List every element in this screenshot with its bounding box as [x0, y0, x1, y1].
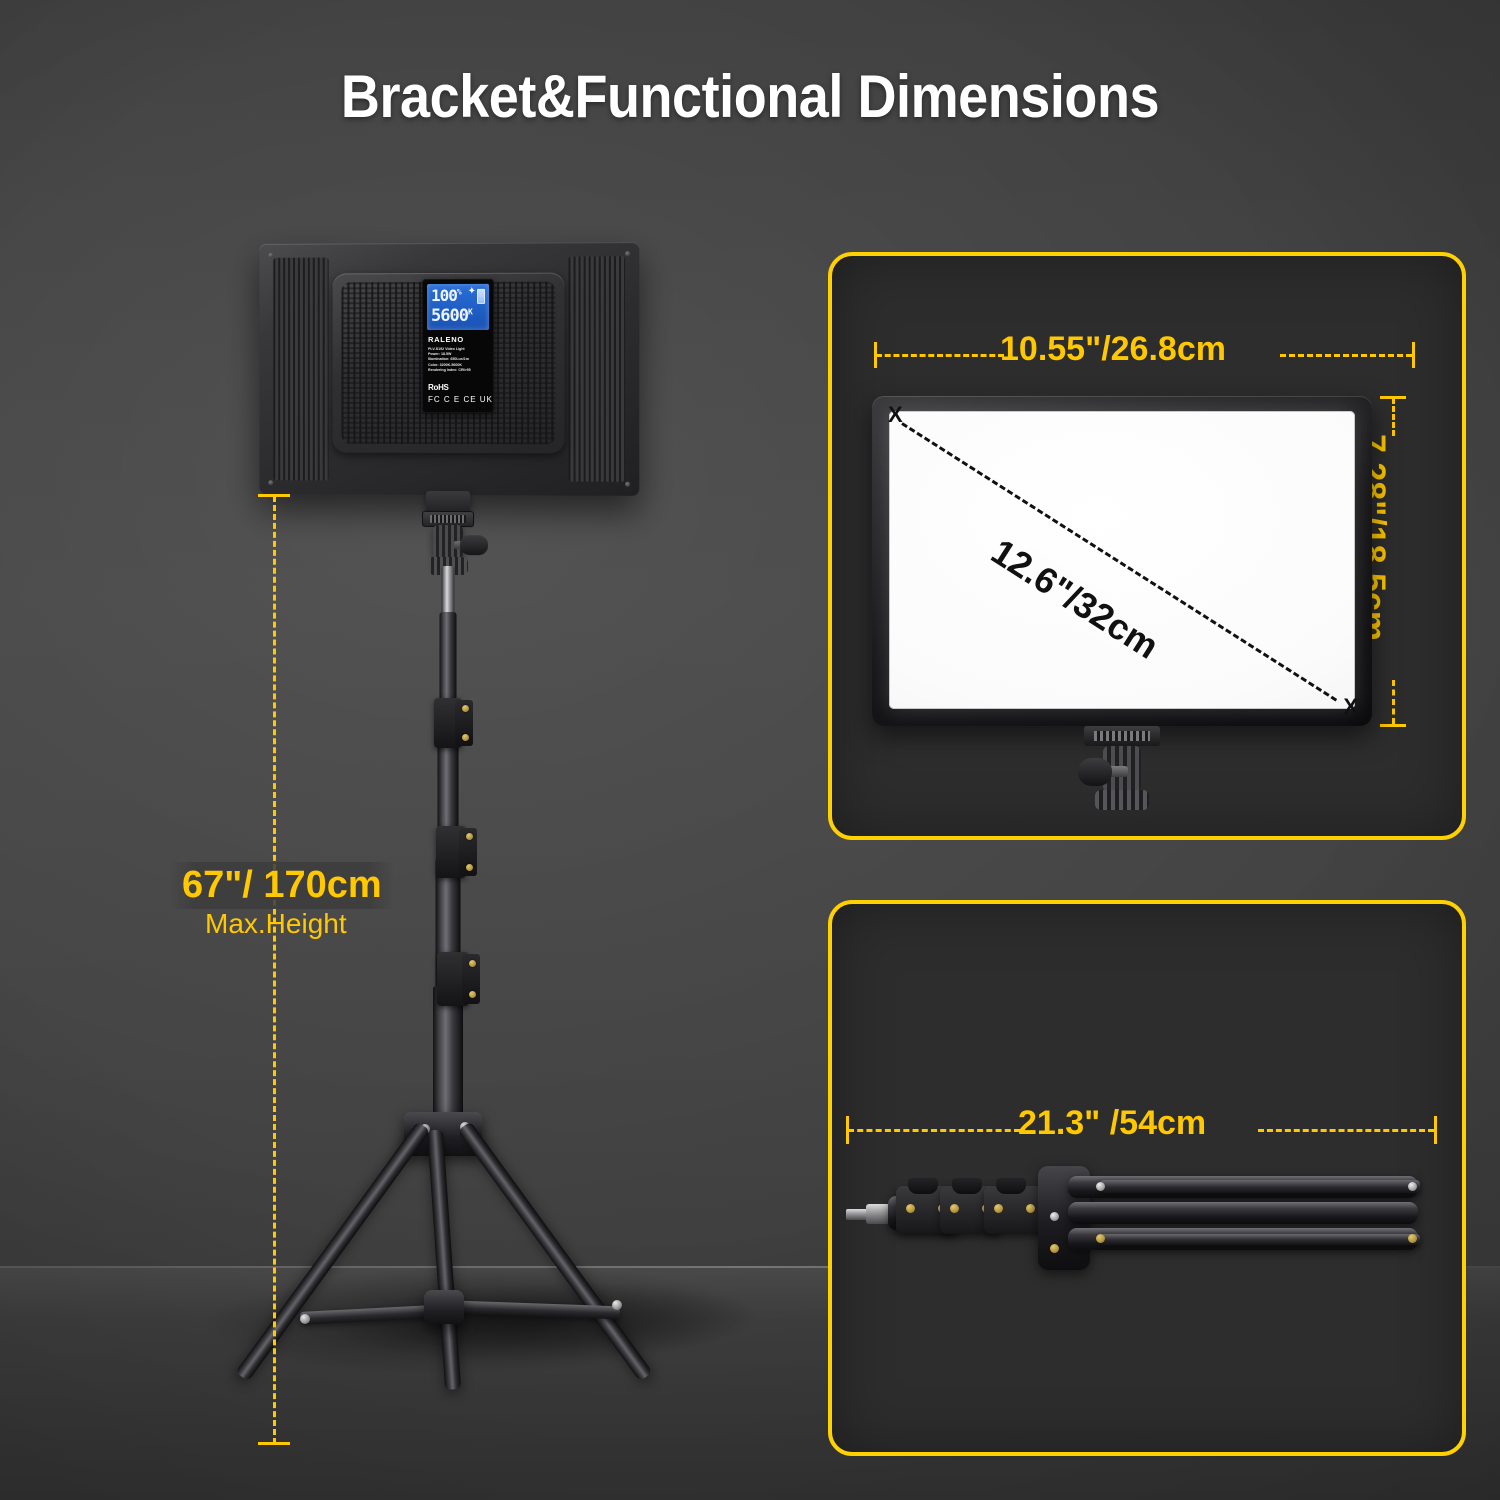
- brace-pivot-screw: [612, 1300, 622, 1310]
- lock-screw: [950, 1204, 959, 1213]
- lcd-temperature-row: 5600K: [431, 308, 486, 325]
- infographic-canvas: Bracket&Functional Dimensions 100% ✦ 560…: [0, 0, 1500, 1500]
- diagonal-corner-mark: X: [888, 404, 903, 426]
- height-measure-line-top: [1392, 398, 1395, 436]
- panel-folded-dimensions: 21.3" /54cm: [828, 900, 1466, 1456]
- mount-screw-base: [866, 1204, 890, 1224]
- diagonal-corner-mark: X: [1343, 696, 1358, 718]
- folded-lock-lever[interactable]: [996, 1178, 1026, 1194]
- folded-lock-lever[interactable]: [952, 1178, 982, 1194]
- sun-icon: ✦: [468, 286, 476, 297]
- housing-screw: [625, 482, 630, 487]
- panel-light-dimensions: 10.55"/26.8cm 7.28"/18.5cm X X 12.6"/32c…: [828, 252, 1466, 840]
- mount-screw-tip: [846, 1209, 868, 1220]
- brace-pivot-screw: [1408, 1234, 1417, 1243]
- width-measure-line-right: [1280, 354, 1412, 357]
- lock-screw: [466, 833, 473, 840]
- led-light-panel-front: X X 12.6"/32cm: [872, 396, 1372, 726]
- lock-screw: [469, 960, 476, 967]
- brace-centre-collar: [424, 1290, 464, 1324]
- brand-name: RALENO: [428, 335, 464, 344]
- lcd-brightness-value: 100: [431, 286, 457, 305]
- flip-lock-1[interactable]: [434, 698, 462, 748]
- lock-screw: [466, 864, 473, 871]
- diffuser-face: [889, 411, 1355, 709]
- height-measure-line: [273, 496, 276, 1444]
- width-tick-right: [1412, 342, 1415, 368]
- housing-screw: [625, 251, 630, 256]
- shoe-teeth: [430, 515, 466, 523]
- spec-line: Rendering Index: CRI>95: [428, 368, 490, 373]
- lock-screw: [469, 991, 476, 998]
- stand-height-value: 67"/ 170cm: [170, 862, 394, 909]
- stand-height-caption: Max.Height: [205, 908, 347, 940]
- length-measure-line-right: [1258, 1129, 1434, 1132]
- lock-screw: [906, 1204, 915, 1213]
- page-title: Bracket&Functional Dimensions: [75, 62, 1425, 131]
- lcd-temperature-value: 5600: [431, 306, 468, 326]
- led-light-panel-rear: 100% ✦ 5600K RALENO PLV-S192 Video Light…: [260, 242, 640, 496]
- hub-pivot-screw: [1050, 1212, 1059, 1221]
- lcd-brightness-unit: %: [457, 288, 461, 297]
- folded-length-label: 21.3" /54cm: [1018, 1104, 1206, 1143]
- vent-grille-left: [273, 258, 328, 481]
- compliance-marks: FC C E CE UK: [428, 395, 493, 404]
- vent-grille-right: [568, 256, 625, 482]
- lock-screw: [462, 734, 469, 741]
- rohs-icon: RoHS: [428, 383, 493, 392]
- brace-pivot-screw: [1408, 1182, 1417, 1191]
- housing-screw: [268, 253, 273, 258]
- housing-screw: [268, 480, 273, 485]
- column-section-4: [433, 986, 463, 1132]
- width-measure-line-left: [876, 354, 1004, 357]
- lock-screw: [1026, 1204, 1035, 1213]
- brace-pivot-screw: [1096, 1234, 1105, 1243]
- lcd-display: 100% ✦ 5600K: [427, 284, 489, 330]
- shoe-teeth: [1094, 731, 1150, 741]
- tilt-lock-knob[interactable]: [460, 535, 488, 555]
- front-mount-collar: [1095, 790, 1149, 810]
- lock-screw: [994, 1204, 1003, 1213]
- height-measure-line-bottom: [1392, 680, 1395, 724]
- measure-tick-bottom: [258, 1442, 290, 1445]
- front-cold-shoe: [1084, 726, 1160, 746]
- brace-pivot-screw: [300, 1314, 310, 1324]
- control-label-plate: 100% ✦ 5600K RALENO PLV-S192 Video Light…: [422, 279, 494, 413]
- flip-lock-3[interactable]: [437, 952, 469, 1006]
- folded-brace-2: [1100, 1234, 1420, 1245]
- front-tilt-knob[interactable]: [1078, 758, 1112, 786]
- lock-screw: [462, 705, 469, 712]
- certification-marks: RoHS FC C E CE UK: [428, 383, 493, 404]
- length-tick-right: [1434, 1116, 1437, 1144]
- panel-width-label: 10.55"/26.8cm: [1000, 330, 1226, 369]
- spec-list: PLV-S192 Video Light Power: 18.5W Illumi…: [428, 347, 490, 373]
- height-tick-bottom: [1380, 724, 1406, 727]
- flip-lock-2[interactable]: [436, 826, 466, 878]
- lcd-temperature-unit: K: [468, 307, 472, 316]
- battery-icon: [477, 289, 485, 304]
- hub-pivot-screw: [1050, 1244, 1059, 1253]
- folded-leg-2: [1068, 1202, 1418, 1224]
- folded-lock-lever[interactable]: [908, 1178, 938, 1194]
- folded-brace-1: [1100, 1180, 1420, 1193]
- brace-pivot-screw: [1096, 1182, 1105, 1191]
- length-measure-line-left: [848, 1129, 1020, 1132]
